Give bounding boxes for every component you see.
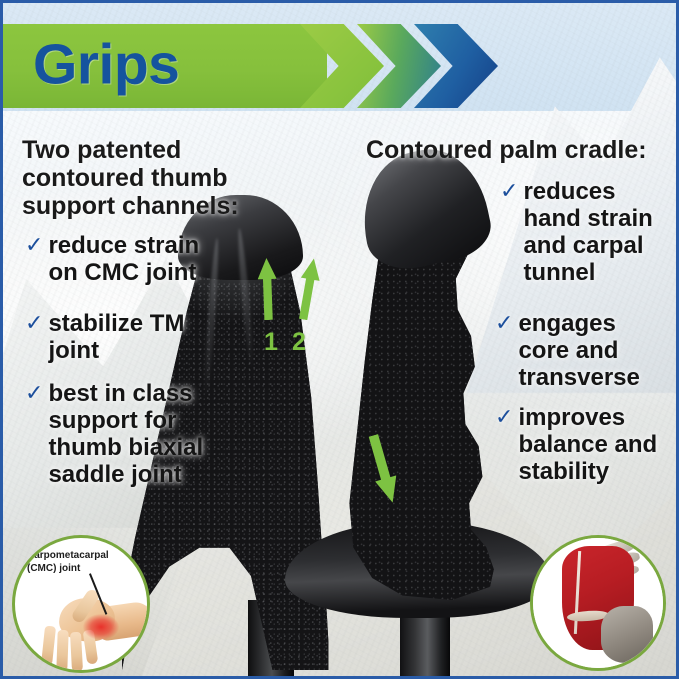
left-bullet-3: ✓ best in class support for thumb biaxia… [25, 380, 240, 488]
finger-bone-2 [56, 630, 68, 672]
check-icon: ✓ [495, 404, 513, 430]
finger-bone-1 [41, 626, 56, 667]
right-bullet-3: ✓ improves balance and stability [495, 404, 679, 485]
check-icon: ✓ [25, 310, 43, 336]
pelvis-bone [601, 606, 653, 663]
left-bullet-2-text: stabilize TM joint [48, 310, 184, 364]
header-banner: Grips [3, 24, 327, 108]
page-title: Grips [33, 36, 179, 93]
right-column-heading: Contoured palm cradle: [366, 136, 666, 164]
cmc-joint-pain-highlight [83, 614, 119, 640]
check-icon: ✓ [25, 380, 43, 406]
left-bullet-1-text: reduce strain on CMC joint [48, 232, 199, 286]
core-muscle-illustration [533, 538, 663, 668]
right-bullet-1: ✓ reduces hand strain and carpal tunnel [500, 178, 676, 286]
infographic-canvas: Grips 1 2 Two patented contoured thumb s… [0, 0, 679, 679]
right-bullet-3-text: improves balance and stability [518, 404, 657, 485]
right-bullet-1-text: reduces hand strain and carpal tunnel [523, 178, 652, 286]
left-bullet-1: ✓ reduce strain on CMC joint [25, 232, 253, 286]
left-column-heading: Two patented contoured thumb support cha… [22, 136, 272, 220]
left-bullet-3-text: best in class support for thumb biaxial … [48, 380, 203, 488]
right-bullet-2-text: engages core and transverse [518, 310, 639, 391]
finger-bone-3 [70, 632, 83, 673]
check-icon: ✓ [495, 310, 513, 336]
cmc-joint-inset: Carpometacarpal (CMC) joint [12, 535, 150, 673]
check-icon: ✓ [25, 232, 43, 258]
left-bullet-2: ✓ stabilize TM joint [25, 310, 235, 364]
check-icon: ✓ [500, 178, 518, 204]
channel-number-1: 1 [264, 330, 278, 355]
core-muscle-inset [530, 535, 666, 671]
cmc-joint-label: Carpometacarpal (CMC) joint [27, 550, 109, 575]
right-bullet-2: ✓ engages core and transverse [495, 310, 675, 391]
channel-number-2: 2 [292, 330, 306, 355]
hand-anatomy-illustration [21, 582, 149, 670]
